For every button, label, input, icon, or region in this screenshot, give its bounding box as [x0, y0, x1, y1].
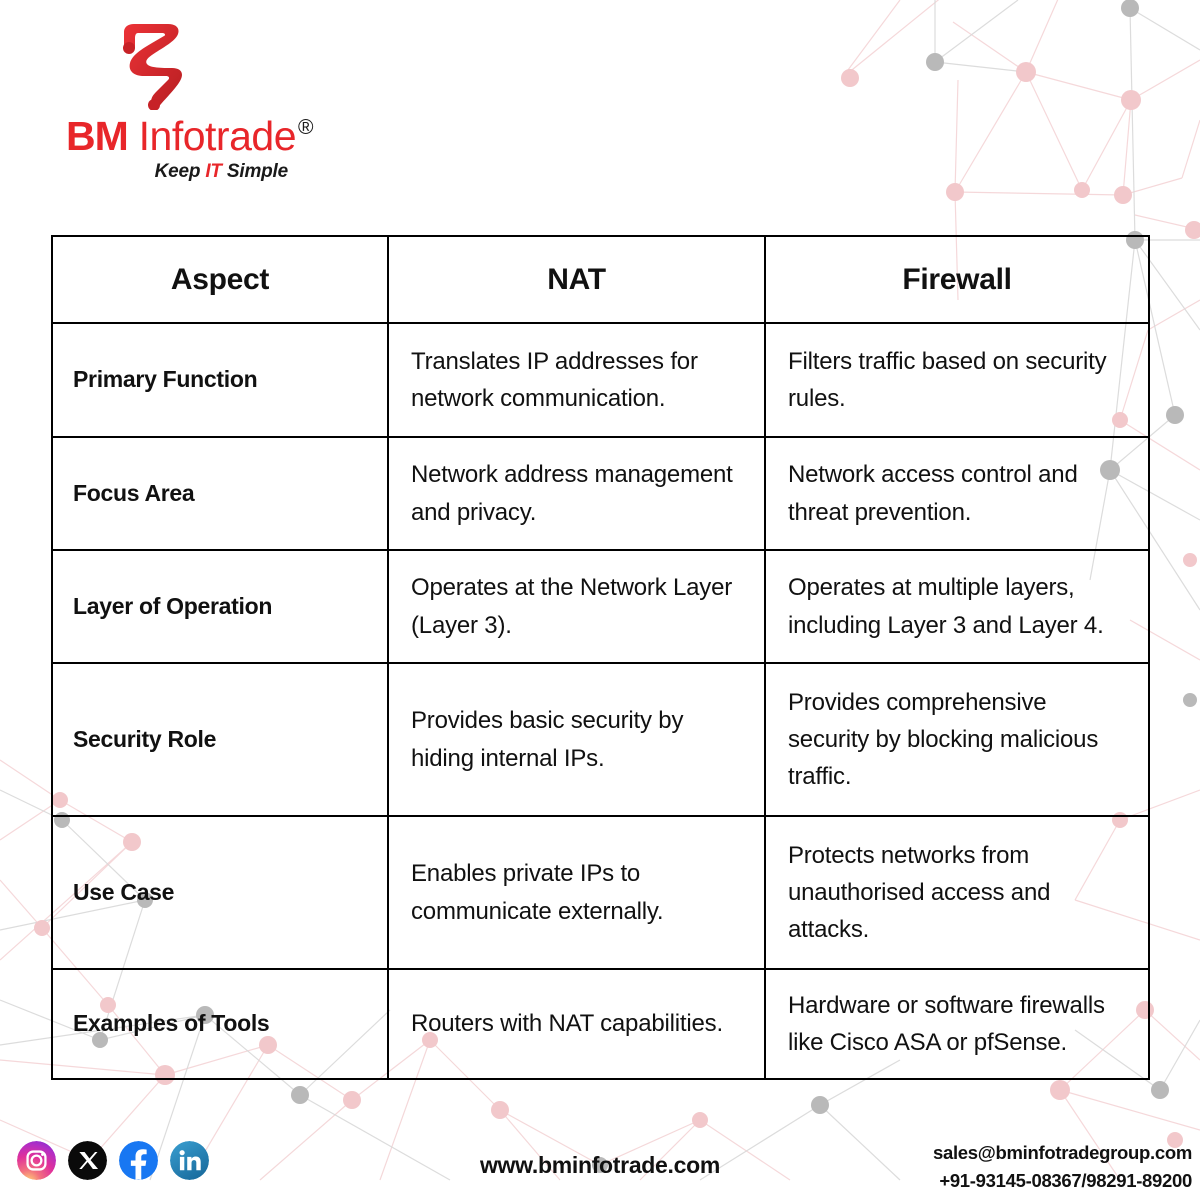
- table-row: Layer of Operation Operates at the Netwo…: [52, 550, 1149, 663]
- row-nat-value: Translates IP addresses for network comm…: [388, 323, 765, 437]
- row-aspect-label: Layer of Operation: [52, 550, 388, 663]
- brand-name-bold: BM: [66, 113, 128, 159]
- row-aspect-label: Focus Area: [52, 437, 388, 550]
- row-aspect-label: Examples of Tools: [52, 969, 388, 1079]
- row-nat-value: Routers with NAT capabilities.: [388, 969, 765, 1079]
- row-firewall-value: Provides comprehensive security by block…: [765, 663, 1149, 816]
- table-row: Examples of Tools Routers with NAT capab…: [52, 969, 1149, 1079]
- row-aspect-label: Use Case: [52, 816, 388, 969]
- table-row: Primary Function Translates IP addresses…: [52, 323, 1149, 437]
- footer-contact-block: sales@bminfotradegroup.com +91-93145-083…: [933, 1139, 1192, 1195]
- row-firewall-value: Protects networks from unauthorised acce…: [765, 816, 1149, 969]
- column-header-nat: NAT: [388, 236, 765, 323]
- infographic-page: BM Infotrade® Keep IT Simple Aspect NAT …: [0, 0, 1200, 1200]
- footer-phone[interactable]: +91-93145-08367/98291-89200: [933, 1167, 1192, 1195]
- page-footer: www.bminfotrade.com sales@bminfotradegro…: [0, 1125, 1200, 1200]
- table-row: Use Case Enables private IPs to communic…: [52, 816, 1149, 969]
- row-nat-value: Provides basic security by hiding intern…: [388, 663, 765, 816]
- tagline-pre: Keep: [155, 161, 206, 182]
- table-row: Focus Area Network address management an…: [52, 437, 1149, 550]
- nat-vs-firewall-comparison-table: Aspect NAT Firewall Primary Function Tra…: [51, 235, 1150, 1080]
- row-nat-value: Network address management and privacy.: [388, 437, 765, 550]
- table-body: Primary Function Translates IP addresses…: [52, 323, 1149, 1079]
- row-firewall-value: Operates at multiple layers, including L…: [765, 550, 1149, 663]
- registered-trademark-icon: ®: [298, 116, 313, 139]
- brand-wordmark: BM Infotrade®: [66, 116, 366, 157]
- row-nat-value: Enables private IPs to communicate exter…: [388, 816, 765, 969]
- brand-logo: BM Infotrade® Keep IT Simple: [66, 18, 366, 183]
- column-header-firewall: Firewall: [765, 236, 1149, 323]
- row-firewall-value: Network access control and threat preven…: [765, 437, 1149, 550]
- row-firewall-value: Hardware or software firewalls like Cisc…: [765, 969, 1149, 1079]
- table-row: Security Role Provides basic security by…: [52, 663, 1149, 816]
- brand-tagline: Keep IT Simple: [66, 161, 288, 183]
- tagline-post: Simple: [222, 161, 288, 182]
- tagline-accent: IT: [205, 161, 222, 182]
- column-header-aspect: Aspect: [52, 236, 388, 323]
- row-aspect-label: Security Role: [52, 663, 388, 816]
- table-header-row: Aspect NAT Firewall: [52, 236, 1149, 323]
- footer-email[interactable]: sales@bminfotradegroup.com: [933, 1139, 1192, 1167]
- table-header: Aspect NAT Firewall: [52, 236, 1149, 323]
- row-aspect-label: Primary Function: [52, 323, 388, 437]
- bm-infotrade-ribbon-logo-icon: [114, 18, 192, 110]
- brand-name-light: Infotrade: [128, 113, 296, 159]
- row-firewall-value: Filters traffic based on security rules.: [765, 323, 1149, 437]
- row-nat-value: Operates at the Network Layer (Layer 3).: [388, 550, 765, 663]
